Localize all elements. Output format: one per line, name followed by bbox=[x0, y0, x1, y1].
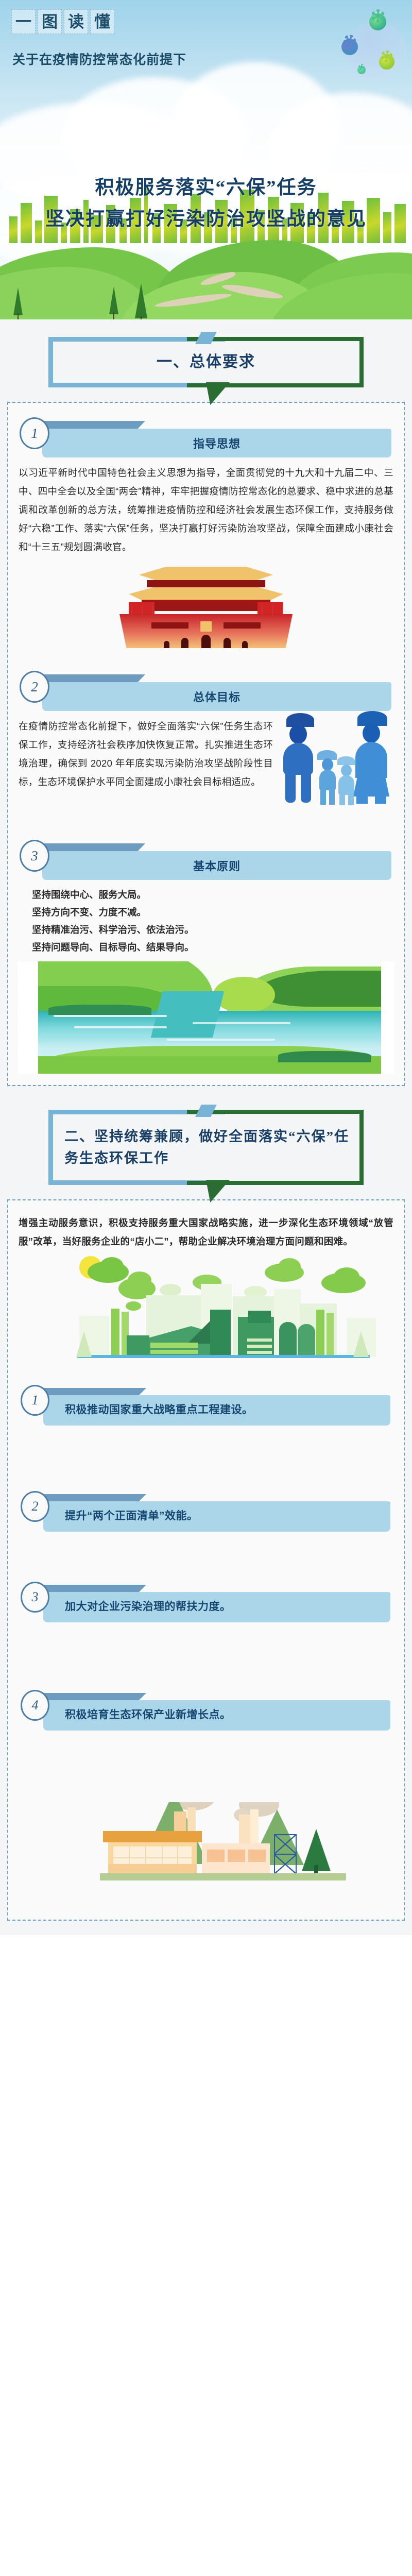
principle-item: 坚持精准治污、科学治污、依法治污。 bbox=[32, 921, 393, 939]
virus-icon bbox=[379, 54, 394, 70]
subsection-pill-1: 1 指导思想 bbox=[18, 417, 394, 454]
river-valley-icon bbox=[18, 961, 394, 1074]
section-two-heading-wrap: 二、坚持统筹兼顾，做好全面落实“六保”任务生态环保工作 bbox=[0, 1086, 412, 1190]
badge-char: 懂 bbox=[90, 9, 114, 34]
badge-char: 图 bbox=[38, 9, 62, 34]
principle-item: 坚持方向不变、力度不减。 bbox=[32, 904, 393, 921]
item-text: 积极推动国家重大战略重点工程建设。 bbox=[65, 1401, 381, 1418]
hero-subtitle: 关于在疫情防控常态化前提下 bbox=[12, 49, 186, 68]
pill-body: 指导思想 bbox=[42, 429, 391, 457]
section-one-title: 一、总体要求 bbox=[157, 342, 255, 383]
subsection-number: 2 bbox=[20, 671, 49, 703]
section-two-intro: 增强主动服务意识，积极支持服务重大国家战略实施，进一步深化生态环境领域“放管服”… bbox=[18, 1212, 394, 1251]
list-item[interactable]: 4 积极培育生态环保产业新增长点。 bbox=[20, 1690, 392, 1747]
tiananmen-icon bbox=[18, 560, 394, 668]
subsection-number: 3 bbox=[20, 840, 49, 872]
hero-title-line-1: 积极服务落实“六保”任务 bbox=[0, 173, 412, 204]
item-text: 积极培育生态环保产业新增长点。 bbox=[65, 1706, 381, 1723]
subsection-title: 总体目标 bbox=[185, 682, 249, 711]
item-body: 加大对企业污染治理的帮扶力度。 bbox=[43, 1592, 390, 1622]
subsection-title: 基本原则 bbox=[185, 851, 249, 880]
basic-principles-list: 坚持围绕中心、服务大局。 坚持方向不变、力度不减。 坚持精准治污、科学治污、依法… bbox=[18, 884, 394, 956]
pill-body: 总体目标 bbox=[42, 682, 391, 711]
tree-icon bbox=[109, 286, 118, 314]
item-body: 积极培育生态环保产业新增长点。 bbox=[43, 1700, 390, 1731]
section-one-card: 1 指导思想 以习近平新时代中国特色社会主义思想为指导，全面贯彻党的十九大和十九… bbox=[7, 402, 405, 1086]
green-city-icon bbox=[18, 1254, 394, 1378]
badge-char: 读 bbox=[64, 9, 88, 34]
item-body: 积极推动国家重大战略重点工程建设。 bbox=[43, 1395, 390, 1426]
tree-icon bbox=[135, 283, 147, 318]
subsection-pill-2: 2 总体目标 bbox=[18, 671, 394, 708]
section-heading-box: 二、坚持统筹兼顾，做好全面落实“六保”任务生态环保工作 bbox=[48, 1110, 364, 1185]
list-item[interactable]: 3 加大对企业污染治理的帮扶力度。 bbox=[20, 1582, 392, 1638]
item-number: 1 bbox=[21, 1385, 49, 1416]
section-heading-box: 一、总体要求 bbox=[48, 337, 364, 387]
guiding-thought-paragraph: 以习近平新时代中国特色社会主义思想为指导，全面贯彻党的十九大和十九届二中、三中、… bbox=[18, 462, 394, 556]
yitu-dudong-badge: 一 图 读 懂 bbox=[11, 9, 114, 34]
section-two-title: 二、坚持统筹兼顾，做好全面落实“六保”任务生态环保工作 bbox=[53, 1114, 359, 1180]
item-number: 3 bbox=[21, 1582, 49, 1613]
principle-item: 坚持围绕中心、服务大局。 bbox=[32, 886, 393, 904]
list-item[interactable]: 2 提升“两个正面清单”效能。 bbox=[20, 1491, 392, 1540]
virus-icon bbox=[357, 66, 366, 74]
item-text: 加大对企业污染治理的帮扶力度。 bbox=[65, 1598, 381, 1615]
item-number: 4 bbox=[21, 1690, 49, 1721]
item-body: 提升“两个正面清单”效能。 bbox=[43, 1501, 390, 1532]
hero-title-line-2: 坚决打赢打好污染防治攻坚战的意见 bbox=[0, 204, 412, 235]
item-number: 2 bbox=[21, 1491, 49, 1522]
section-two-card: 增强主动服务意识，积极支持服务重大国家战略实施，进一步深化生态环境领域“放管服”… bbox=[7, 1199, 405, 1921]
tree-icon bbox=[13, 287, 23, 315]
item-text: 提升“两个正面清单”效能。 bbox=[65, 1507, 381, 1524]
subsection-pill-3: 3 基本原则 bbox=[18, 840, 394, 877]
heading-inner: 一、总体要求 bbox=[53, 342, 359, 383]
hero-banner: 一 图 读 懂 关于在疫情防控常态化前提下 积极服务落实“六保”任务 坚决打赢打… bbox=[0, 0, 412, 319]
page-title: 积极服务落实“六保”任务 坚决打赢打好污染防治攻坚战的意见 bbox=[0, 173, 412, 235]
virus-icon bbox=[341, 39, 358, 55]
section-one-heading-wrap: 一、总体要求 bbox=[0, 319, 412, 393]
infographic-page: 一 图 读 懂 关于在疫情防控常态化前提下 积极服务落实“六保”任务 坚决打赢打… bbox=[0, 0, 412, 1935]
principle-item: 坚持问题导向、目标导向、结果导向。 bbox=[32, 939, 393, 956]
heading-inner: 二、坚持统筹兼顾，做好全面落实“六保”任务生态环保工作 bbox=[53, 1114, 359, 1180]
badge-char: 一 bbox=[11, 9, 36, 34]
subsection-title: 指导思想 bbox=[185, 429, 249, 457]
factory-forest-icon bbox=[18, 1802, 394, 1905]
pill-body: 基本原则 bbox=[42, 851, 391, 880]
virus-icon bbox=[369, 13, 386, 30]
subsection-number: 1 bbox=[20, 417, 49, 449]
green-hills-icon bbox=[0, 237, 412, 319]
family-umbrella-icon bbox=[278, 707, 397, 825]
list-item[interactable]: 1 积极推动国家重大战略重点工程建设。 bbox=[20, 1385, 392, 1442]
